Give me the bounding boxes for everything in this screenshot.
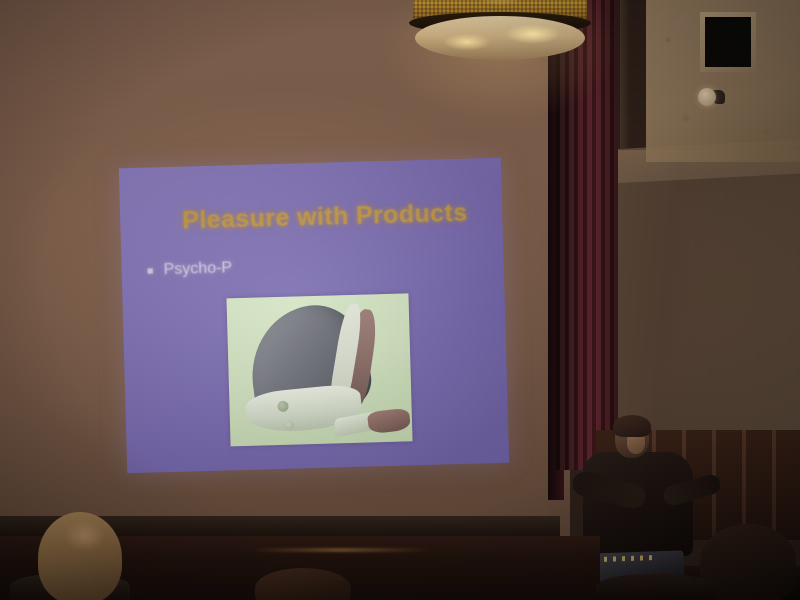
wall-recess: [600, 150, 800, 460]
railing-highlight: [250, 548, 430, 552]
mouse-icon: [367, 408, 411, 435]
square-bullet-icon: [148, 268, 153, 273]
audience-shoulder-right: [596, 574, 716, 600]
lamp-diffuser-bowl: [415, 16, 585, 60]
slide-title: Pleasure with Products: [182, 199, 473, 236]
audience-head-center: [255, 568, 351, 600]
stage-curtain: [556, 0, 618, 470]
projected-slide: Pleasure with Products Psycho-P: [119, 158, 509, 474]
lamp-bulb-glow: [465, 0, 535, 12]
slide-bullet-text: Psycho-P: [163, 259, 232, 279]
wall-vent-opening: [705, 17, 751, 67]
wall-sconce-icon: [698, 88, 716, 106]
lecture-hall-photo: Pleasure with Products Psycho-P: [0, 0, 800, 600]
imac-product-photo: [226, 293, 412, 446]
ceiling-lamp: [405, 0, 595, 62]
audience-head-left: [38, 512, 122, 600]
slide-bullet-item: Psycho-P: [147, 259, 232, 279]
wall-vent-frame: [700, 12, 756, 72]
wall-edge-shadow: [620, 0, 630, 150]
presenter-hair: [613, 415, 651, 437]
